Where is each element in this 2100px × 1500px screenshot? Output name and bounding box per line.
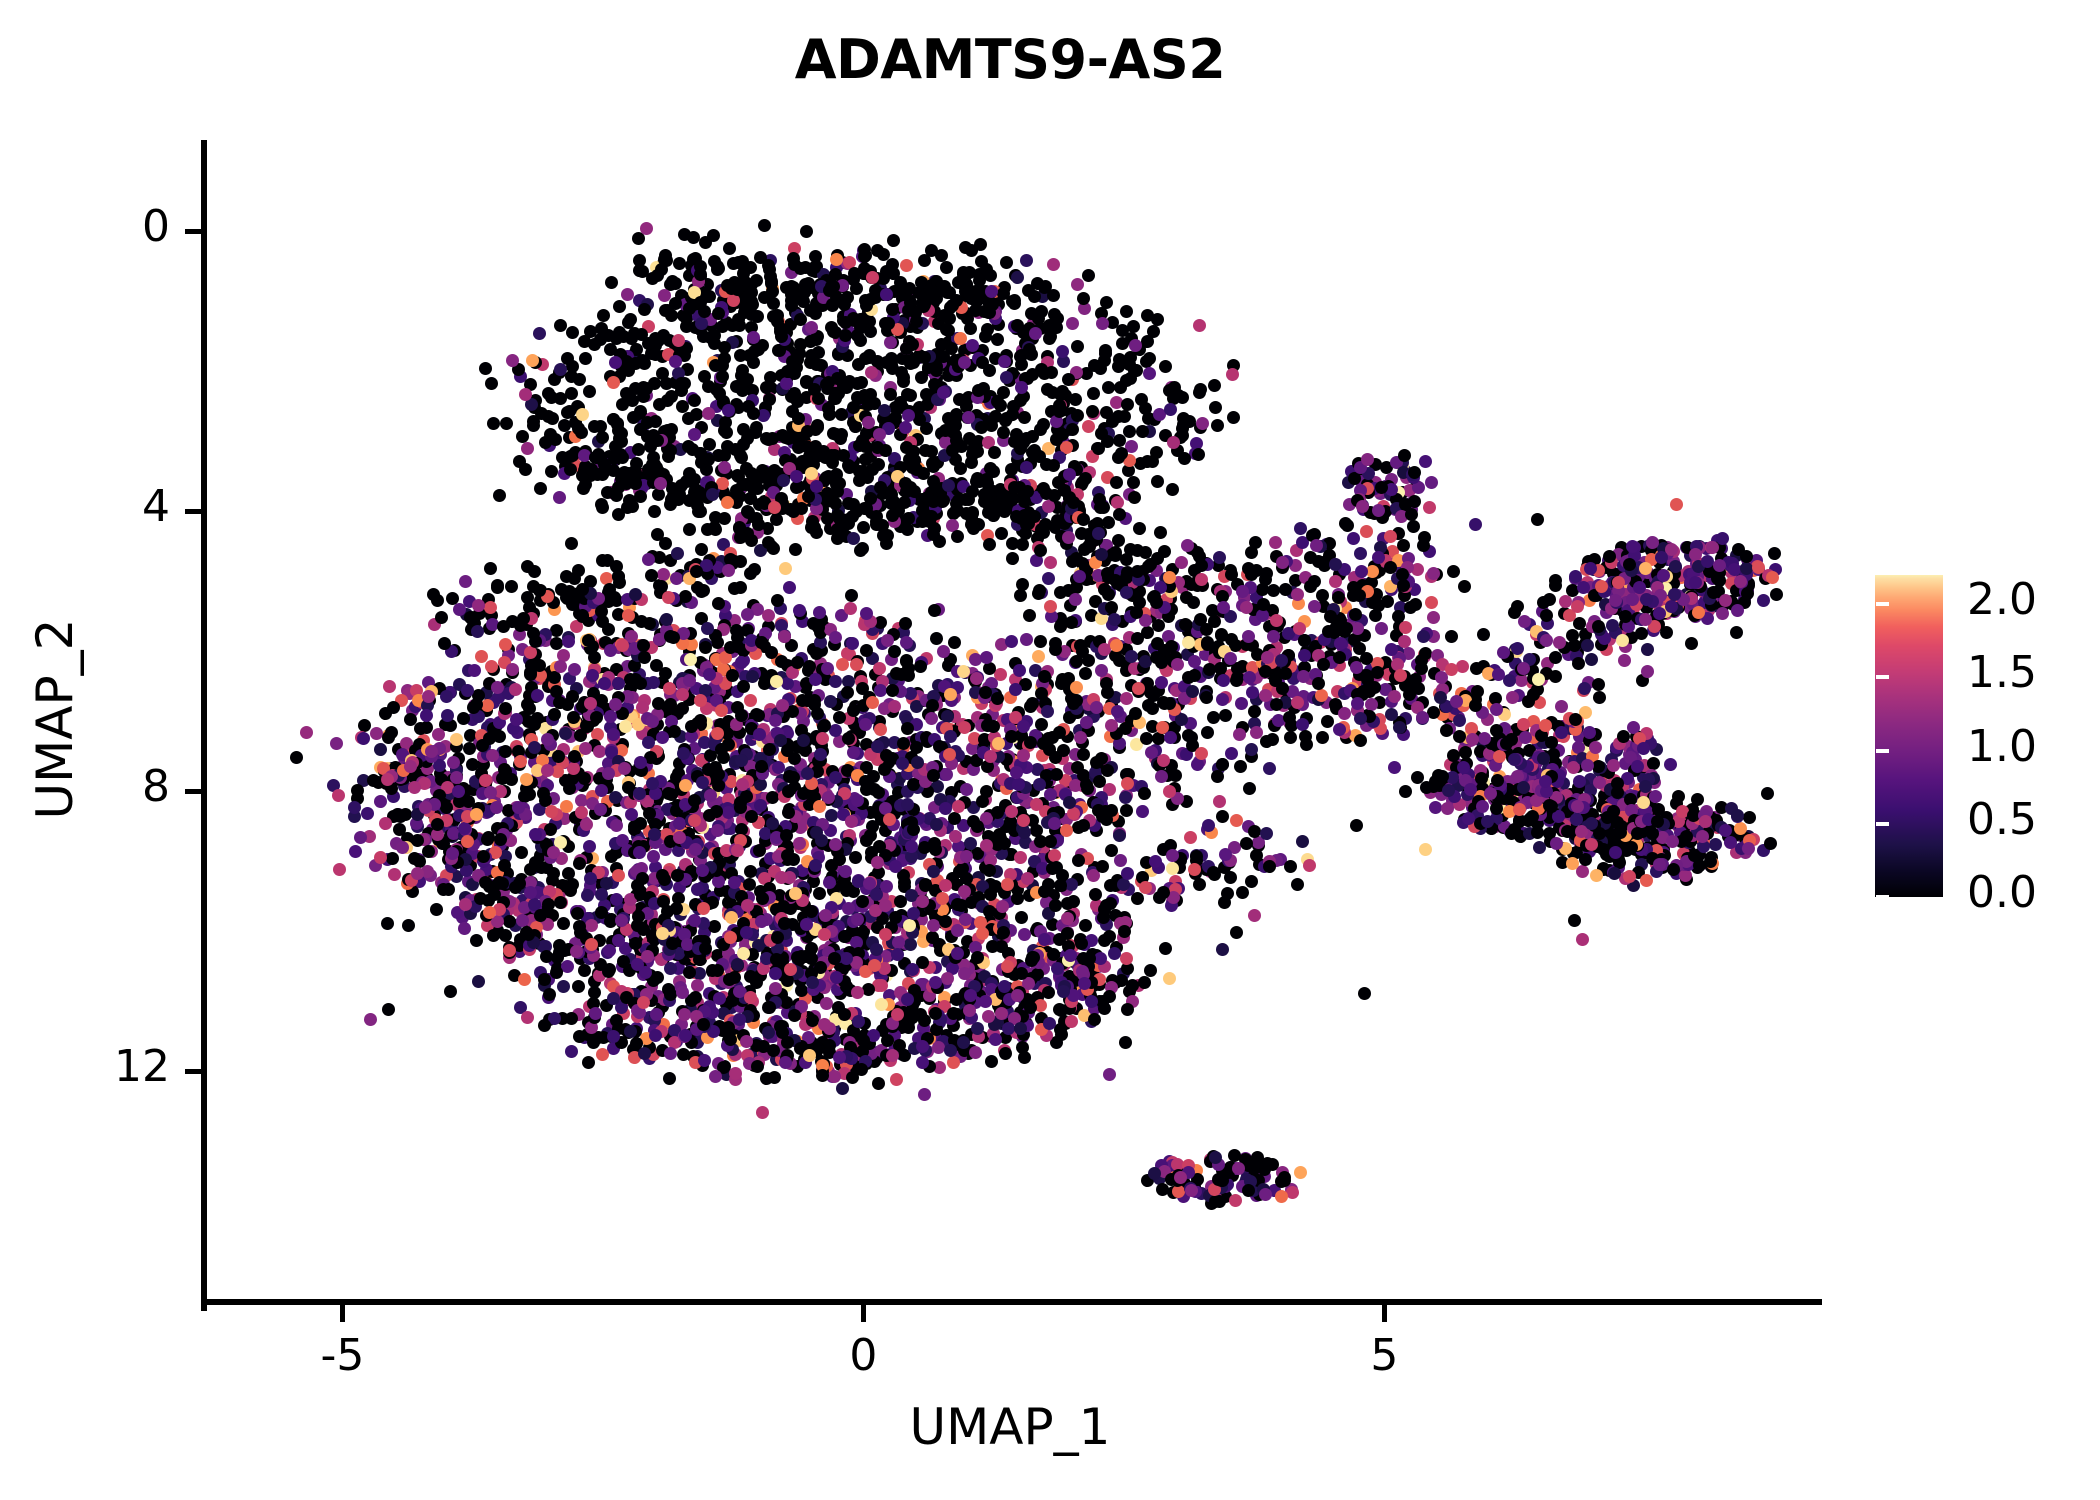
scatter-point [856, 895, 869, 908]
scatter-point [666, 937, 679, 950]
scatter-point [901, 798, 914, 811]
scatter-point [699, 641, 712, 654]
scatter-point [610, 819, 623, 832]
scatter-point [583, 840, 596, 853]
scatter-point [860, 834, 873, 847]
scatter-point [842, 902, 855, 915]
scatter-point [1121, 1003, 1134, 1016]
scatter-point [954, 462, 967, 475]
scatter-point [602, 767, 615, 780]
scatter-point [643, 617, 656, 630]
scatter-point [948, 812, 961, 825]
scatter-point [1226, 368, 1239, 381]
scatter-point [1188, 655, 1201, 668]
scatter-point [509, 683, 522, 696]
scatter-point [1284, 731, 1297, 744]
scatter-point [964, 837, 977, 850]
scatter-point [689, 991, 702, 1004]
scatter-point [1065, 1015, 1078, 1028]
scatter-point [778, 630, 791, 643]
scatter-point [550, 637, 563, 650]
scatter-point [971, 951, 984, 964]
scatter-point [610, 893, 623, 906]
scatter-point [873, 428, 886, 441]
scatter-point [561, 960, 574, 973]
scatter-point [612, 869, 625, 882]
scatter-point [812, 346, 825, 359]
scatter-point [874, 723, 887, 736]
scatter-point [778, 917, 791, 930]
scatter-point [846, 637, 859, 650]
scatter-point [1023, 609, 1036, 622]
scatter-point [918, 351, 931, 364]
scatter-point [546, 412, 559, 425]
scatter-point [958, 356, 971, 369]
scatter-point [1037, 418, 1050, 431]
scatter-point [554, 363, 567, 376]
scatter-point [829, 675, 842, 688]
scatter-point [647, 676, 660, 689]
scatter-point [652, 697, 665, 710]
scatter-point [1120, 692, 1133, 705]
scatter-point [647, 850, 660, 863]
scatter-point [457, 712, 470, 725]
scatter-point [907, 356, 920, 369]
scatter-point [590, 711, 603, 724]
scatter-point [810, 647, 823, 660]
scatter-point [1129, 339, 1142, 352]
scatter-point [980, 651, 993, 664]
scatter-point [1243, 782, 1256, 795]
scatter-point [793, 837, 806, 850]
scatter-point [543, 988, 556, 1001]
scatter-point [386, 852, 399, 865]
scatter-point [697, 902, 710, 915]
scatter-point [788, 752, 801, 765]
scatter-point [562, 635, 575, 648]
scatter-point [1147, 325, 1160, 338]
scatter-point [675, 377, 688, 390]
scatter-point [300, 726, 313, 739]
figure-canvas: ADAMTS9-AS2 12840 -505 UMAP_1 UMAP_2 2.0… [0, 0, 2100, 1500]
scatter-point [557, 917, 570, 930]
scatter-point [463, 742, 476, 755]
scatter-point [1074, 731, 1087, 744]
scatter-point [904, 938, 917, 951]
scatter-point [1046, 386, 1059, 399]
scatter-point [971, 820, 984, 833]
scatter-point [1211, 419, 1224, 432]
scatter-point [886, 684, 899, 697]
scatter-point [1005, 805, 1018, 818]
scatter-point [950, 408, 963, 421]
scatter-point [576, 408, 589, 421]
scatter-point [900, 259, 913, 272]
scatter-point [907, 823, 920, 836]
scatter-point [1066, 317, 1079, 330]
scatter-point [824, 695, 837, 708]
scatter-point [383, 680, 396, 693]
scatter-point [944, 730, 957, 743]
scatter-point [952, 800, 965, 813]
scatter-point [836, 658, 849, 671]
scatter-point [514, 755, 527, 768]
scatter-point [803, 660, 816, 673]
scatter-point [619, 720, 632, 733]
scatter-point [374, 795, 387, 808]
scatter-point [833, 711, 846, 724]
scatter-point [691, 883, 704, 896]
scatter-point [805, 952, 818, 965]
scatter-point [688, 394, 701, 407]
scatter-point [986, 940, 999, 953]
scatter-point [636, 354, 649, 367]
scatter-point [374, 851, 387, 864]
scatter-point [991, 692, 1004, 705]
scatter-point [743, 878, 756, 891]
scatter-point [411, 834, 424, 847]
scatter-point [1017, 749, 1030, 762]
scatter-point [1013, 664, 1026, 677]
scatter-point [616, 398, 629, 411]
scatter-point [983, 905, 996, 918]
scatter-point [1375, 622, 1388, 635]
scatter-point [609, 791, 622, 804]
scatter-point [1234, 760, 1247, 773]
scatter-point [981, 719, 994, 732]
scatter-point [1069, 393, 1082, 406]
scatter-point [1169, 769, 1182, 782]
scatter-point [888, 645, 901, 658]
scatter-point [1166, 483, 1179, 496]
scatter-point [633, 787, 646, 800]
scatter-point [696, 776, 709, 789]
scatter-point [1172, 389, 1185, 402]
scatter-point [829, 631, 842, 644]
scatter-point [652, 488, 665, 501]
scatter-point [420, 709, 433, 722]
scatter-point [678, 1008, 691, 1021]
scatter-point [664, 962, 677, 975]
scatter-point [1062, 373, 1075, 386]
scatter-point [940, 261, 953, 274]
scatter-point [683, 674, 696, 687]
scatter-point [682, 412, 695, 425]
scatter-point [1163, 697, 1176, 710]
scatter-point [991, 333, 1004, 346]
scatter-point [379, 817, 392, 830]
scatter-point [585, 919, 598, 932]
scatter-point [1099, 347, 1112, 360]
scatter-point [695, 317, 708, 330]
scatter-point [1269, 536, 1282, 549]
scatter-point [607, 376, 620, 389]
scatter-point [1164, 731, 1177, 744]
scatter-point [811, 421, 824, 434]
scatter-point [554, 392, 567, 405]
scatter-point [755, 915, 768, 928]
scatter-point [1090, 701, 1103, 714]
scatter-point [598, 677, 611, 690]
scatter-point [822, 376, 835, 389]
scatter-point [544, 823, 557, 836]
scatter-point [1143, 352, 1156, 365]
scatter-point [951, 924, 964, 937]
scatter-point [1017, 720, 1030, 733]
scatter-point [752, 518, 765, 531]
scatter-point [1200, 691, 1213, 704]
scatter-point [862, 416, 875, 429]
scatter-point [1123, 358, 1136, 371]
scatter-point [996, 900, 1009, 913]
scatter-point [1057, 744, 1070, 757]
scatter-point [523, 788, 536, 801]
scatter-point [515, 846, 528, 859]
scatter-point [638, 651, 651, 664]
scatter-point [793, 604, 806, 617]
scatter-point [830, 428, 843, 441]
scatter-point [788, 387, 801, 400]
scatter-point [763, 743, 776, 756]
scatter-point [789, 543, 802, 556]
scatter-point [487, 417, 500, 430]
scatter-point [880, 880, 893, 893]
scatter-point [899, 421, 912, 434]
scatter-point [844, 602, 857, 615]
scatter-point [810, 826, 823, 839]
scatter-point [468, 664, 481, 677]
scatter-point [1263, 762, 1276, 775]
scatter-point [971, 445, 984, 458]
scatter-point [657, 895, 670, 908]
scatter-point [1042, 572, 1055, 585]
scatter-point [1120, 804, 1133, 817]
scatter-point [821, 662, 834, 675]
scatter-point [806, 976, 819, 989]
scatter-point [637, 639, 650, 652]
scatter-point [565, 387, 578, 400]
scatter-point [629, 673, 642, 686]
scatter-point [816, 732, 829, 745]
scatter-point [927, 769, 940, 782]
scatter-point [683, 966, 696, 979]
scatter-point [691, 979, 704, 992]
scatter-point [1201, 726, 1214, 739]
scatter-point [1121, 777, 1134, 790]
scatter-point [1385, 708, 1398, 721]
scatter-point [814, 748, 827, 761]
scatter-point [838, 930, 851, 943]
scatter-point [944, 688, 957, 701]
scatter-point [916, 895, 929, 908]
scatter-point [579, 742, 592, 755]
scatter-point [789, 887, 802, 900]
scatter-point [499, 638, 512, 651]
scatter-point [964, 322, 977, 335]
scatter-point [1101, 764, 1114, 777]
scatter-point [1123, 425, 1136, 438]
scatter-point [1304, 551, 1317, 564]
scatter-point [871, 856, 884, 869]
scatter-point [640, 382, 653, 395]
scatter-point [396, 841, 409, 854]
scatter-point [1070, 681, 1083, 694]
scatter-point [926, 699, 939, 712]
scatter-point [594, 803, 607, 816]
scatter-point [665, 390, 678, 403]
scatter-point [1216, 758, 1229, 771]
scatter-point [1398, 449, 1411, 462]
scatter-point [1193, 319, 1206, 332]
scatter-point [1037, 737, 1050, 750]
scatter-point [1731, 604, 1744, 617]
scatter-point [1316, 731, 1329, 744]
scatter-point [812, 392, 825, 405]
scatter-point [740, 373, 753, 386]
scatter-point [871, 740, 884, 753]
scatter-point [1138, 787, 1151, 800]
scatter-point [1209, 401, 1222, 414]
scatter-point [891, 948, 904, 961]
scatter-point [525, 659, 538, 672]
scatter-point [919, 444, 932, 457]
scatter-point [770, 675, 783, 688]
scatter-point [533, 327, 546, 340]
scatter-point [1049, 643, 1062, 656]
scatter-point [711, 727, 724, 740]
scatter-point [595, 322, 608, 335]
scatter-point [1009, 683, 1022, 696]
scatter-point [752, 343, 765, 356]
scatter-point [354, 831, 367, 844]
scatter-point [1116, 337, 1129, 350]
scatter-point [980, 839, 993, 852]
scatter-point [1213, 795, 1226, 808]
scatter-point [602, 965, 615, 978]
scatter-point [1095, 664, 1108, 677]
page-title: ADAMTS9-AS2 [0, 28, 2020, 91]
scatter-point [1132, 682, 1145, 695]
scatter-point [810, 358, 823, 371]
scatter-point [1100, 296, 1113, 309]
scatter-point [847, 532, 860, 545]
scatter-point [1163, 785, 1176, 798]
scatter-point [782, 785, 795, 798]
scatter-point [689, 843, 702, 856]
scatter-point [994, 668, 1007, 681]
scatter-point [716, 370, 729, 383]
scatter-point [860, 644, 873, 657]
scatter-point [865, 366, 878, 379]
scatter-point [596, 431, 609, 444]
scatter-point [736, 384, 749, 397]
scatter-point [588, 420, 601, 433]
scatter-point [625, 808, 638, 821]
scatter-point [749, 426, 762, 439]
scatter-point [900, 636, 913, 649]
scatter-point [1186, 685, 1199, 698]
scatter-point [696, 864, 709, 877]
scatter-point [980, 785, 993, 798]
scatter-point [1129, 707, 1142, 720]
scatter-point [808, 694, 821, 707]
scatter-point [900, 655, 913, 668]
scatter-point [787, 771, 800, 784]
scatter-point [506, 663, 519, 676]
scatter-point [1155, 676, 1168, 689]
scatter-point [499, 745, 512, 758]
scatter-point [1077, 819, 1090, 832]
scatter-point [724, 641, 737, 654]
scatter-point [813, 800, 826, 813]
scatter-point [1080, 716, 1093, 729]
scatter-point [1005, 730, 1018, 743]
scatter-point [1208, 379, 1221, 392]
scatter-point [578, 964, 591, 977]
scatter-point [519, 388, 532, 401]
scatter-point [634, 756, 647, 769]
scatter-point [860, 607, 873, 620]
scatter-point [527, 415, 540, 428]
scatter-point [930, 818, 943, 831]
scatter-point [333, 863, 346, 876]
scatter-point [708, 920, 721, 933]
scatter-point [812, 621, 825, 634]
scatter-point [664, 698, 677, 711]
scatter-point [991, 395, 1004, 408]
scatter-point [1136, 805, 1149, 818]
scatter-point [715, 743, 728, 756]
scatter-point [701, 622, 714, 635]
scatter-point [595, 906, 608, 919]
scatter-point [584, 872, 597, 885]
scatter-point [845, 815, 858, 828]
scatter-point [684, 653, 697, 666]
scatter-point [1127, 476, 1140, 489]
scatter-point [1419, 455, 1432, 468]
scatter-point [1192, 448, 1205, 461]
scatter-point [763, 393, 776, 406]
scatter-point [621, 288, 634, 301]
scatter-point [718, 341, 731, 354]
scatter-point [809, 673, 822, 686]
scatter-point [332, 789, 345, 802]
scatter-point [572, 980, 585, 993]
scatter-point [998, 355, 1011, 368]
scatter-point [863, 393, 876, 406]
scatter-point [783, 581, 796, 594]
scatter-point [1409, 598, 1422, 611]
scatter-point [597, 309, 610, 322]
scatter-point [1060, 824, 1073, 837]
scatter-point [866, 696, 879, 709]
scatter-point [660, 613, 673, 626]
scatter-point [1178, 452, 1191, 465]
scatter-point [1035, 718, 1048, 731]
scatter-point [563, 782, 576, 795]
scatter-point [1105, 804, 1118, 817]
scatter-point [1067, 807, 1080, 820]
scatter-point [716, 359, 729, 372]
scatter-point [1425, 476, 1438, 489]
scatter-point [857, 521, 870, 534]
scatter-plot-area [207, 140, 1822, 1305]
scatter-point [1167, 436, 1180, 449]
scatter-point [414, 722, 427, 735]
scatter-point [567, 711, 580, 724]
scatter-point [688, 814, 701, 827]
scatter-point [402, 919, 415, 932]
